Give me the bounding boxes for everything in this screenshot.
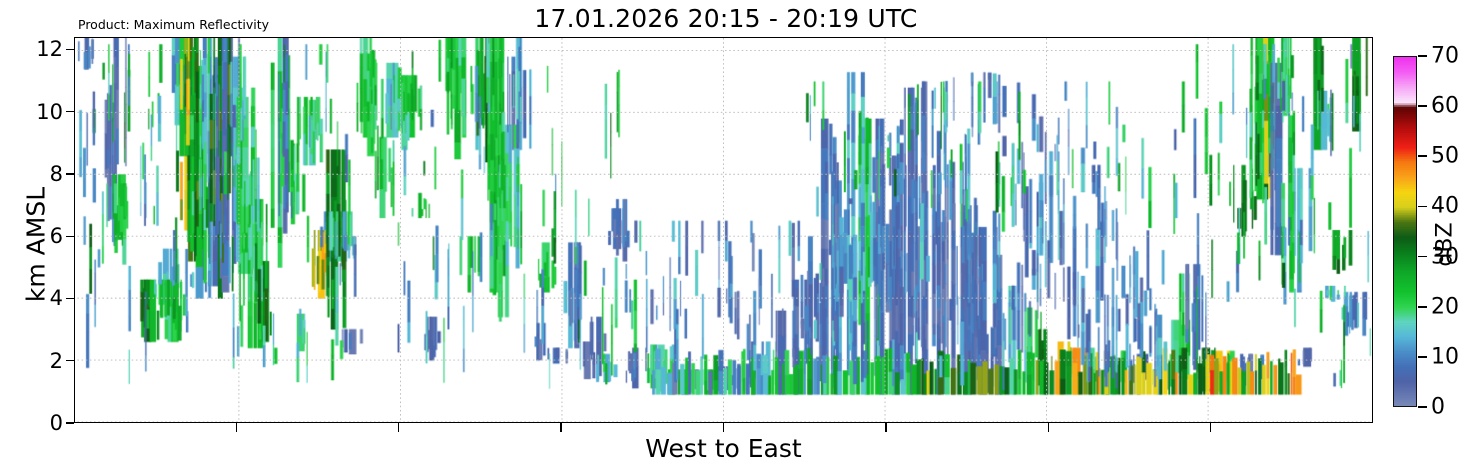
y-tick-mark bbox=[66, 173, 74, 174]
colorbar-tick-mark bbox=[1418, 306, 1427, 308]
y-tick-label: 4 bbox=[50, 286, 63, 310]
colorbar-tick-label: 70 bbox=[1431, 44, 1459, 69]
x-tick-mark bbox=[885, 423, 886, 432]
colorbar-tick-mark bbox=[1418, 105, 1427, 107]
product-label: Product: Maximum Reflectivity bbox=[78, 17, 269, 32]
colorbar-tick-mark bbox=[1418, 55, 1427, 57]
y-tick-mark bbox=[66, 236, 74, 237]
x-tick-mark bbox=[723, 423, 724, 432]
y-axis-label: km AMSL bbox=[22, 125, 51, 365]
colorbar-tick-label: 60 bbox=[1431, 94, 1459, 119]
colorbar-tick-mark bbox=[1418, 356, 1427, 358]
colorbar-tick-label: 10 bbox=[1431, 344, 1459, 369]
y-tick-mark bbox=[66, 298, 74, 299]
colorbar-tick-mark bbox=[1418, 155, 1427, 157]
y-tick-mark bbox=[66, 49, 74, 50]
y-tick-mark bbox=[66, 111, 74, 112]
x-axis-label: West to East bbox=[74, 434, 1373, 463]
y-tick-label: 8 bbox=[50, 162, 63, 186]
colorbar-tick-label: 50 bbox=[1431, 144, 1459, 169]
x-tick-mark bbox=[560, 423, 561, 432]
y-tick-mark bbox=[66, 360, 74, 361]
y-tick-mark bbox=[66, 422, 74, 423]
colorbar-tick-mark bbox=[1418, 206, 1427, 208]
y-tick-label: 10 bbox=[36, 100, 63, 124]
x-tick-mark bbox=[1048, 423, 1049, 432]
plot-area bbox=[74, 37, 1373, 423]
colorbar-tick-mark bbox=[1418, 406, 1427, 408]
reflectivity-heatmap bbox=[75, 38, 1372, 422]
colorbar-tick-mark bbox=[1418, 256, 1427, 258]
x-tick-mark bbox=[398, 423, 399, 432]
y-tick-label: 12 bbox=[36, 37, 63, 61]
colorbar bbox=[1393, 56, 1417, 407]
x-tick-mark bbox=[1210, 423, 1211, 432]
colorbar-gradient bbox=[1394, 57, 1416, 406]
y-tick-label: 0 bbox=[50, 411, 63, 435]
radar-cross-section-figure: 17.01.2026 20:15 - 20:19 UTC Product: Ma… bbox=[0, 0, 1482, 470]
y-tick-label: 6 bbox=[50, 224, 63, 248]
x-tick-mark bbox=[236, 423, 237, 432]
colorbar-tick-label: 0 bbox=[1431, 395, 1445, 420]
y-tick-label: 2 bbox=[50, 349, 63, 373]
colorbar-unit-label: dBZ bbox=[1433, 185, 1458, 305]
